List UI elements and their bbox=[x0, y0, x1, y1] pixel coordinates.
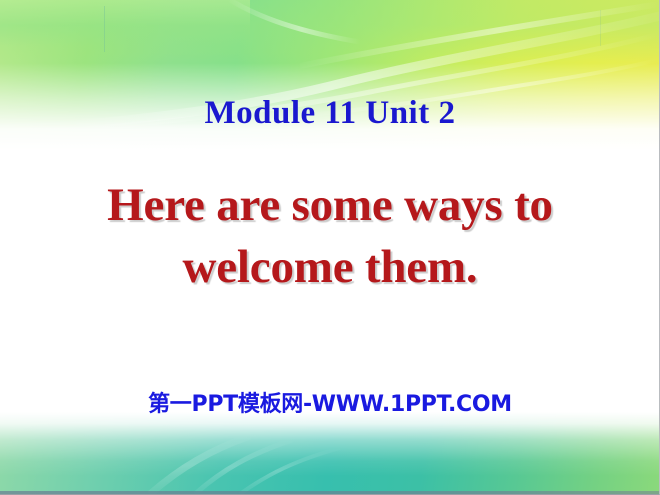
slide-title-line-2: welcome them. bbox=[50, 236, 610, 298]
slide-content: Module 11 Unit 2 Here are some ways to w… bbox=[0, 0, 660, 495]
slide-subtitle: Module 11 Unit 2 bbox=[0, 96, 660, 131]
slide-title: Here are some ways to welcome them. bbox=[50, 174, 610, 298]
slide-title-line-1: Here are some ways to bbox=[50, 174, 610, 236]
presentation-slide: Module 11 Unit 2 Here are some ways to w… bbox=[0, 0, 660, 495]
watermark-text: 第一PPT模板网-WWW.1PPT.COM bbox=[0, 386, 660, 418]
